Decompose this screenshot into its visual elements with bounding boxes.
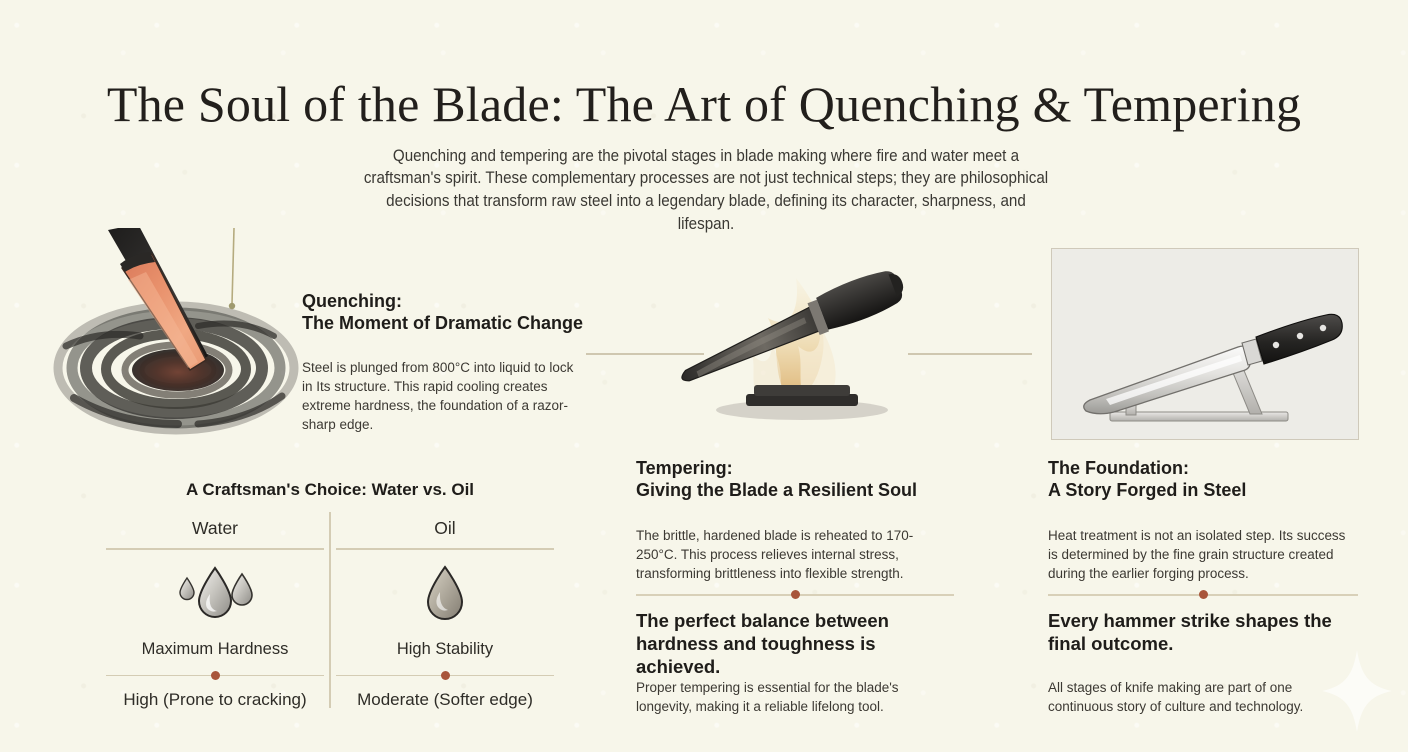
page-title: The Soul of the Blade: The Art of Quench… [0,78,1408,131]
foundation-footnote: All stages of knife making are part of o… [1048,679,1333,717]
water-droplets-icon [100,550,330,636]
comparison-oil-name: Oil [330,518,560,539]
foundation-heading-line2: A Story Forged in Steel [1048,480,1368,502]
finished-knife-on-stand-illustration [1052,249,1359,440]
tempering-heading-line2: Giving the Blade a Resilient Soul [636,480,956,502]
tempering-punchline: The perfect balance between hardness and… [636,610,956,679]
oil-droplet-icon [330,550,560,636]
hot-blade-quench-in-water-illustration [48,228,306,446]
comparison-oil-value: Moderate (Softer edge) [330,690,560,710]
quenching-body-text: Steel is plunged from 800°C into liquid … [302,359,587,435]
quenching-heading: Quenching: The Moment of Dramatic Change [302,291,602,335]
tempering-heading-line1: Tempering: [636,458,733,478]
quenching-heading-line1: Quenching: [302,291,402,311]
comparison-column-oil: Oil High S [330,518,560,710]
foundation-heading-line1: The Foundation: [1048,458,1189,478]
tempering-heading: Tempering: Giving the Blade a Resilient … [636,458,956,502]
tempering-footnote: Proper tempering is essential for the bl… [636,679,921,717]
comparison-water-name: Water [100,518,330,539]
foundation-punchline: Every hammer strike shapes the final out… [1048,610,1338,656]
accent-dot [1199,590,1208,599]
comparison-oil-dot-rule [336,669,554,683]
tempering-body-text: The brittle, hardened blade is reheated … [636,527,940,584]
knife-over-flame-illustration [650,234,950,434]
tempering-divider [636,588,954,602]
comparison-oil-attribute: High Stability [330,640,560,659]
comparison-water-value: High (Prone to cracking) [100,690,330,710]
accent-dot [791,590,800,599]
comparison-title: A Craftsman's Choice: Water vs. Oil [100,480,560,500]
foundation-divider [1048,588,1358,602]
foundation-heading: The Foundation: A Story Forged in Steel [1048,458,1368,502]
comparison-table: A Craftsman's Choice: Water vs. Oil Wate… [100,480,560,710]
finished-knife-photo-frame [1051,248,1359,440]
comparison-water-attribute: Maximum Hardness [100,640,330,659]
foundation-body-text: Heat treatment is not an isolated step. … [1048,527,1347,584]
page-subtitle: Quenching and tempering are the pivotal … [362,145,1050,236]
quenching-heading-line2: The Moment of Dramatic Change [302,313,602,335]
accent-dot [211,671,220,680]
comparison-column-water: Water [100,518,330,710]
accent-dot [441,671,450,680]
comparison-water-dot-rule [106,669,324,683]
